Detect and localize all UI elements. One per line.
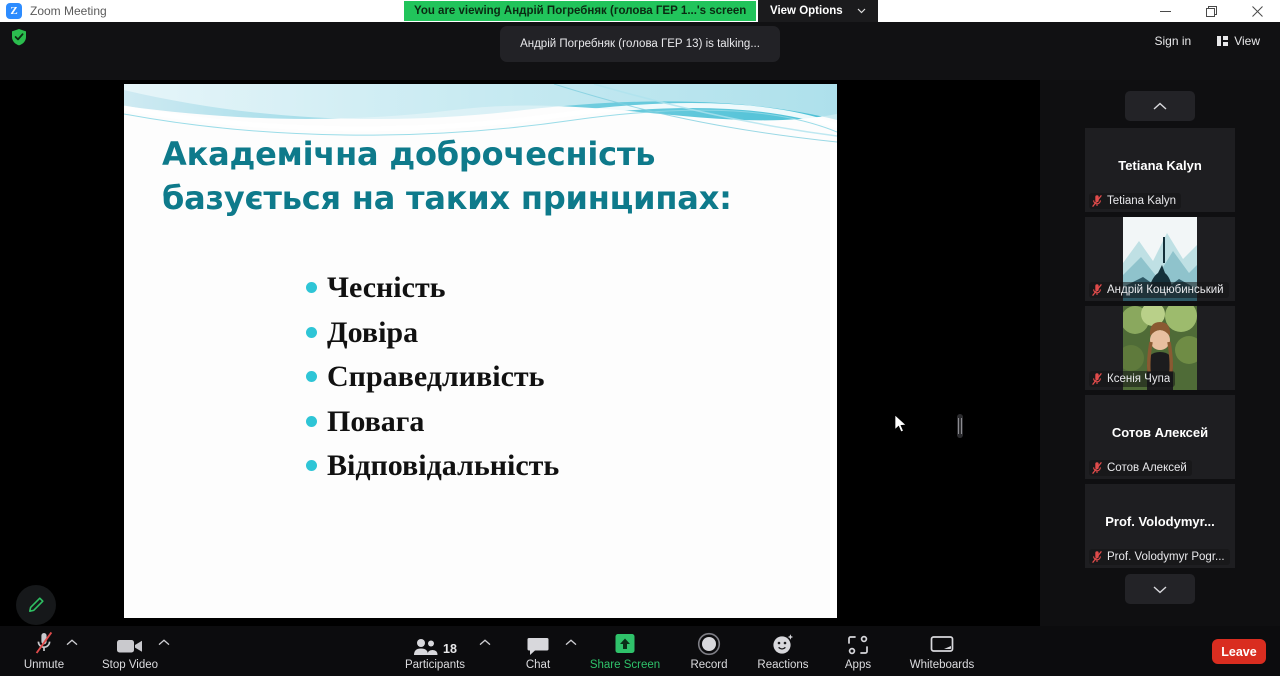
participant-name-label: Андрій Коцюбинський xyxy=(1089,282,1229,298)
bullet-text: Довіра xyxy=(327,317,418,349)
bullet-dot-icon xyxy=(306,371,317,382)
participant-name-text: Ксенія Чупа xyxy=(1107,373,1170,385)
participant-name-text: Андрій Коцюбинський xyxy=(1107,284,1224,296)
slide-title-line-2: базується на таких принципах: xyxy=(162,176,802,220)
chevron-down-icon xyxy=(857,6,866,16)
chevron-up-icon xyxy=(158,639,170,646)
screen-share-banner: You are viewing Андрій Погребняк (голова… xyxy=(404,1,756,21)
view-layout-button[interactable]: View xyxy=(1207,29,1270,53)
record-icon xyxy=(697,630,721,656)
slide-title-line-1: Академічна доброчесність xyxy=(162,132,802,176)
bullet-text: Відповідальність xyxy=(327,450,559,482)
bullet-text: Справедливість xyxy=(327,361,545,393)
bullet-dot-icon xyxy=(306,282,317,293)
chevron-up-icon xyxy=(565,639,577,646)
participants-button[interactable]: 18 Participants xyxy=(399,630,471,671)
active-speaker-notice: Андрій Погребняк (голова ГЕР 13) is talk… xyxy=(500,26,780,62)
bullet-text: Повага xyxy=(327,406,424,438)
mouse-cursor xyxy=(894,414,908,439)
list-item: Відповідальність xyxy=(306,450,826,482)
participant-tile[interactable]: Tetiana Kalyn Tetiana Kalyn xyxy=(1085,128,1235,212)
participant-name-label: Prof. Volodymyr Pogr... xyxy=(1089,549,1230,565)
panel-resize-handle[interactable] xyxy=(957,414,963,438)
chevron-up-icon xyxy=(1153,102,1167,111)
participant-display-name: Сотов Алексей xyxy=(1085,425,1235,440)
mic-muted-icon xyxy=(1091,372,1103,386)
apps-icon xyxy=(846,630,870,656)
chevron-up-icon xyxy=(66,639,78,646)
apps-button[interactable]: Apps xyxy=(822,630,894,671)
chat-label: Chat xyxy=(526,659,550,671)
bullet-dot-icon xyxy=(306,460,317,471)
list-item: Чесність xyxy=(306,272,826,304)
slide-bullet-list: Чесність Довіра Справедливість Повага Ві… xyxy=(306,272,826,495)
stop-video-button[interactable]: Stop Video xyxy=(94,630,166,671)
sign-in-button[interactable]: Sign in xyxy=(1145,29,1202,53)
share-screen-button[interactable]: Share Screen xyxy=(589,630,661,671)
reactions-icon xyxy=(771,630,795,656)
view-label: View xyxy=(1234,34,1260,48)
security-shield-icon[interactable] xyxy=(8,26,30,48)
mic-muted-icon xyxy=(1091,461,1103,475)
reactions-button[interactable]: Reactions xyxy=(747,630,819,671)
window-controls xyxy=(1142,0,1280,22)
mic-muted-icon xyxy=(1091,283,1103,297)
leave-label: Leave xyxy=(1221,645,1256,659)
layout-grid-icon xyxy=(1217,36,1228,46)
rail-scroll-up-button[interactable] xyxy=(1125,91,1195,121)
share-screen-label: Share Screen xyxy=(590,659,660,671)
chevron-up-icon xyxy=(479,639,491,646)
mic-muted-icon xyxy=(1091,550,1103,564)
chat-bubble-icon xyxy=(526,630,550,656)
bullet-dot-icon xyxy=(306,327,317,338)
meeting-toolbar: Unmute Stop Video 18 Participants Chat xyxy=(0,626,1280,676)
window-title: Zoom Meeting xyxy=(30,4,107,18)
slide-title: Академічна доброчесність базується на та… xyxy=(162,132,802,220)
participant-tile[interactable]: Prof. Volodymyr... Prof. Volodymyr Pogr.… xyxy=(1085,484,1235,568)
chevron-down-icon xyxy=(1153,585,1167,594)
active-speaker-text: Андрій Погребняк (голова ГЕР 13) is talk… xyxy=(520,38,760,50)
maximize-icon[interactable] xyxy=(1188,0,1234,22)
participant-display-name: Prof. Volodymyr... xyxy=(1085,514,1235,529)
participants-options-caret[interactable] xyxy=(479,638,491,649)
video-camera-icon xyxy=(115,630,145,656)
participant-name-label: Сотов Алексей xyxy=(1089,460,1192,476)
video-options-caret[interactable] xyxy=(158,638,170,649)
presentation-slide: Академічна доброчесність базується на та… xyxy=(124,84,837,618)
participant-display-name: Tetiana Kalyn xyxy=(1085,158,1235,173)
participant-tile[interactable]: Андрій Коцюбинський xyxy=(1085,217,1235,301)
sign-in-label: Sign in xyxy=(1155,34,1192,48)
record-button[interactable]: Record xyxy=(673,630,745,671)
participant-name-text: Tetiana Kalyn xyxy=(1107,195,1176,207)
unmute-label: Unmute xyxy=(24,659,64,671)
share-screen-icon xyxy=(612,630,638,656)
participant-tile[interactable]: Сотов Алексей Сотов Алексей xyxy=(1085,395,1235,479)
reactions-label: Reactions xyxy=(757,659,808,671)
stop-video-label: Stop Video xyxy=(102,659,158,671)
annotate-pen-button[interactable] xyxy=(16,585,56,625)
close-icon[interactable] xyxy=(1234,0,1280,22)
list-item: Довіра xyxy=(306,317,826,349)
apps-label: Apps xyxy=(845,659,871,671)
whiteboards-button[interactable]: Whiteboards xyxy=(906,630,978,671)
minimize-icon[interactable] xyxy=(1142,0,1188,22)
leave-button[interactable]: Leave xyxy=(1212,639,1266,664)
record-label: Record xyxy=(690,659,727,671)
participant-name-text: Prof. Volodymyr Pogr... xyxy=(1107,551,1225,563)
participant-name-label: Ксенія Чупа xyxy=(1089,371,1175,387)
unmute-button[interactable]: Unmute xyxy=(8,630,80,671)
rail-scroll-down-button[interactable] xyxy=(1125,574,1195,604)
participant-tile[interactable]: Ксенія Чупа xyxy=(1085,306,1235,390)
participant-tiles: Tetiana Kalyn Tetiana Kalyn Андрій Коцюб… xyxy=(1040,128,1280,568)
participants-rail: Tetiana Kalyn Tetiana Kalyn Андрій Коцюб… xyxy=(1040,80,1280,626)
participant-name-text: Сотов Алексей xyxy=(1107,462,1187,474)
list-item: Справедливість xyxy=(306,361,826,393)
whiteboards-label: Whiteboards xyxy=(910,659,975,671)
top-right-actions: Sign in View xyxy=(1145,29,1271,53)
view-options-button[interactable]: View Options xyxy=(758,0,878,22)
bullet-text: Чесність xyxy=(327,272,446,304)
participant-name-label: Tetiana Kalyn xyxy=(1089,193,1181,209)
participants-count: 18 xyxy=(443,642,457,656)
mic-muted-icon xyxy=(1091,194,1103,208)
participants-label: Participants xyxy=(405,659,465,671)
pen-annotate-icon xyxy=(26,595,46,615)
audio-options-caret[interactable] xyxy=(66,638,78,649)
view-options-label: View Options xyxy=(770,5,843,17)
chat-button[interactable]: Chat xyxy=(502,630,574,671)
mic-muted-icon xyxy=(32,630,56,656)
bullet-dot-icon xyxy=(306,416,317,427)
participants-icon: 18 xyxy=(413,630,457,656)
shared-screen-stage[interactable]: Академічна доброчесність базується на та… xyxy=(0,80,1040,626)
chat-options-caret[interactable] xyxy=(565,638,577,649)
zoom-logo-icon: Z xyxy=(6,3,22,19)
list-item: Повага xyxy=(306,406,826,438)
whiteboard-icon xyxy=(929,630,955,656)
